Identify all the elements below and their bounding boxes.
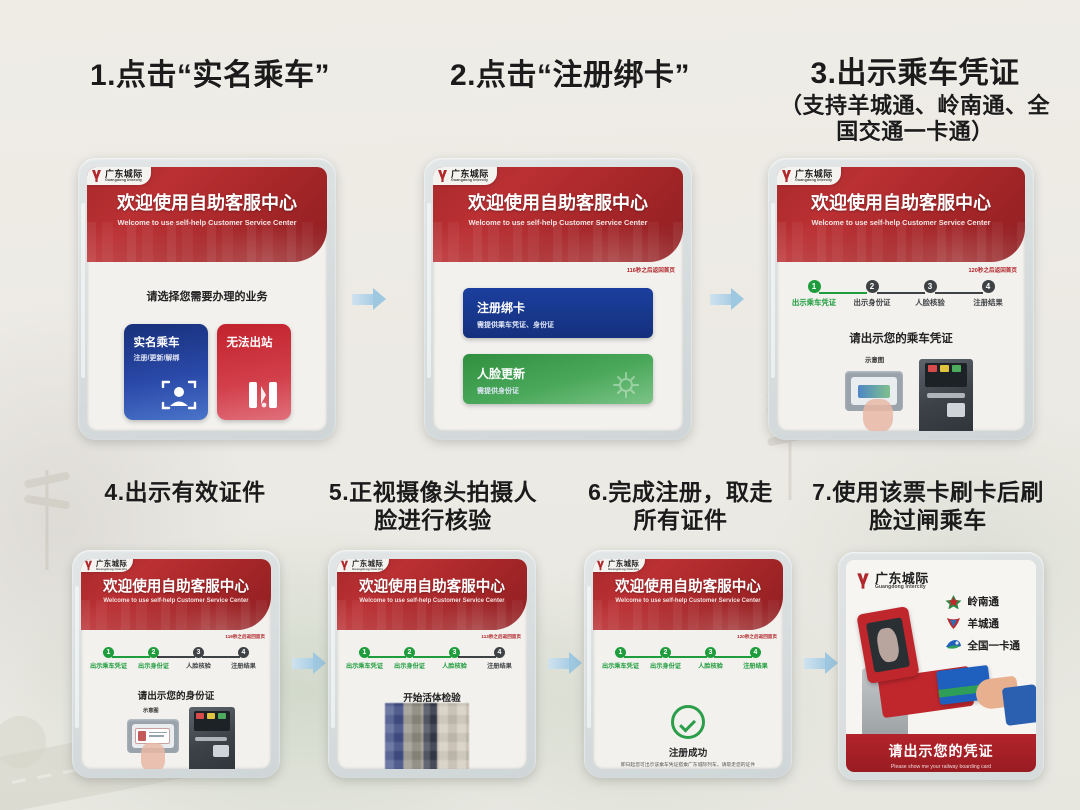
accepted-card-yangchengtong: 羊城通 (945, 616, 1021, 631)
brand-logo-text-2: 广东城际 Guangdong Intercity (451, 170, 489, 183)
camera-preview-mosaic (385, 703, 469, 769)
guangdong-intercity-logo-icon (781, 169, 792, 183)
kiosk-welcome-subtitle-2: Welcome to use self-help Customer Servic… (433, 218, 683, 227)
service-card-title: 无法出站 (227, 334, 291, 350)
gate-machine-illustration (189, 707, 235, 769)
brand-logo-7: 广东城际 Guangdong Intercity (856, 572, 929, 590)
kiosk-welcome-title-6: 欢迎使用自助客服中心 (593, 575, 783, 596)
step-3-heading: 3.出示乘车凭证 （支持羊城通、岭南通、全国交通一卡通） (775, 56, 1055, 146)
progress-step-2: 2 出示身份证 (843, 276, 901, 308)
boarding-card-poster-inner: 广东城际 Guangdong Intercity 岭南通 (846, 560, 1036, 772)
boarding-card-poster-7: 广东城际 Guangdong Intercity 岭南通 (838, 552, 1044, 780)
progress-step-2: 2 出示身份证 (643, 641, 688, 670)
accepted-card-name: 全国一卡通 (968, 638, 1021, 653)
brand-logo-5: 广东城际 Guangdong Intercity (337, 559, 389, 572)
progress-step-label: 注册结果 (221, 661, 266, 670)
national-transit-card-logo-icon (945, 638, 962, 653)
kiosk-welcome-subtitle-4: Welcome to use self-help Customer Servic… (81, 598, 271, 604)
brand-logo-6: 广东城际 Guangdong Intercity (593, 559, 645, 572)
progress-step-number: 4 (982, 280, 995, 293)
progress-step-3: 3 人脸核验 (176, 641, 221, 670)
kiosk-welcome-subtitle-1: Welcome to use self-help Customer Servic… (87, 218, 327, 227)
progress-step-2: 2 出示身份证 (131, 641, 176, 670)
progress-step-label: 人脸核验 (688, 661, 733, 670)
action-button-subtitle: 需提供乘车凭证、身份证 (477, 320, 653, 330)
kiosk-timer-3: 120秒之后返回首页 (969, 266, 1018, 274)
progress-step-2: 2 出示身份证 (387, 641, 432, 670)
hand-illustration (141, 743, 165, 769)
gate-icon (247, 380, 279, 410)
progress-step-4: 4 注册结果 (477, 641, 522, 670)
brand-logo-1: 广东城际 Guangdong Intercity (87, 167, 151, 185)
kiosk-welcome-title-4: 欢迎使用自助客服中心 (81, 575, 271, 596)
brand-logo-2: 广东城际 Guangdong Intercity (433, 167, 497, 185)
step-6-heading-main: 6.完成注册，取走所有证件 (578, 478, 783, 534)
guangdong-intercity-logo-icon (437, 169, 448, 183)
tutorial-poster: 1.点击“实名乘车” 2.点击“注册绑卡” 3.出示乘车凭证 （支持羊城通、岭南… (0, 0, 1080, 810)
kiosk-timer-4: 119秒之后返回首页 (225, 634, 265, 640)
progress-step-label: 人脸核验 (901, 297, 959, 308)
progress-step-label: 出示身份证 (843, 297, 901, 308)
accepted-card-national: 全国一卡通 (945, 638, 1021, 653)
kiosk-timer-6: 120秒之后返回首页 (737, 634, 777, 640)
progress-step-3: 3 人脸核验 (432, 641, 477, 670)
brand-name-en: Guangdong Intercity (795, 179, 833, 183)
progress-step-number: 4 (750, 647, 761, 658)
kiosk-screen-6-display: 广东城际 Guangdong Intercity 欢迎使用自助客服中心 Welc… (593, 559, 783, 769)
service-card-realname-ride[interactable]: 实名乘车 注册/更新/解绑 (124, 324, 208, 420)
flow-arrow-2 (710, 288, 746, 310)
flow-arrow-6 (804, 652, 838, 674)
background-circle-decoration (0, 716, 46, 768)
step-6-heading: 6.完成注册，取走所有证件 (578, 478, 783, 534)
progress-step-1: 1 出示乘车凭证 (785, 276, 843, 308)
kiosk-screen-1-display: 广东城际 Guangdong Intercity 欢迎使用自助客服中心 Welc… (87, 167, 327, 431)
brand-logo-text-6: 广东城际 Guangdong Intercity (608, 560, 639, 570)
kiosk-welcome-subtitle-5: Welcome to use self-help Customer Servic… (337, 598, 527, 604)
kiosk-prompt-1: 请选择您需要办理的业务 (87, 288, 327, 304)
kiosk-prompt-4: 请出示您的身份证 (81, 688, 271, 702)
brand-logo-text-3: 广东城际 Guangdong Intercity (795, 170, 833, 183)
brand-name-en: Guangdong Intercity (875, 585, 929, 590)
brand-name-en: Guangdong Intercity (96, 568, 127, 571)
progress-step-label: 出示乘车凭证 (342, 661, 387, 670)
progress-step-label: 出示身份证 (131, 661, 176, 670)
kiosk-screen-4-display: 广东城际 Guangdong Intercity 欢迎使用自助客服中心 Welc… (81, 559, 271, 769)
poster-banner-en: Please show me your railway boarding car… (846, 764, 1036, 770)
gate-machine-illustration (919, 359, 973, 431)
kiosk-screen-5: 广东城际 Guangdong Intercity 欢迎使用自助客服中心 Welc… (328, 550, 536, 778)
progress-step-label: 出示身份证 (643, 661, 688, 670)
kiosk-screen-2: 广东城际 Guangdong Intercity 欢迎使用自助客服中心 Welc… (424, 158, 692, 440)
kiosk-timer-5: 113秒之后返回首页 (481, 634, 521, 640)
brand-logo-text-1: 广东城际 Guangdong Intercity (105, 170, 143, 183)
kiosk-timer-2: 116秒之后返回首页 (627, 266, 675, 274)
kiosk-illustration-4 (81, 713, 271, 769)
kiosk-welcome-title-1: 欢迎使用自助客服中心 (87, 189, 327, 215)
brand-logo-3: 广东城际 Guangdong Intercity (777, 167, 841, 185)
action-button-list-2: 注册绑卡 需提供乘车凭证、身份证 人脸更新 需提供身份证 (433, 262, 683, 404)
action-button-title: 注册绑卡 (477, 299, 653, 316)
flow-arrow-4 (292, 652, 326, 674)
step-5-heading-main: 5.正视摄像头拍摄人脸进行核验 (318, 478, 548, 534)
progress-step-label: 出示身份证 (387, 661, 432, 670)
progress-step-3: 3 人脸核验 (688, 641, 733, 670)
kiosk-header-4: 广东城际 Guangdong Intercity 欢迎使用自助客服中心 Welc… (81, 559, 271, 630)
kiosk-welcome-subtitle-3: Welcome to use self-help Customer Servic… (777, 218, 1025, 227)
kiosk-screen-3: 广东城际 Guangdong Intercity 欢迎使用自助客服中心 Welc… (768, 158, 1034, 440)
kiosk-prompt-3: 请出示您的乘车凭证 (777, 330, 1025, 346)
progress-step-label: 注册结果 (477, 661, 522, 670)
brand-logo-4: 广东城际 Guangdong Intercity (81, 559, 133, 572)
kiosk-screen-3-display: 广东城际 Guangdong Intercity 欢迎使用自助客服中心 Welc… (777, 167, 1025, 431)
yangchengtong-logo-icon (945, 616, 962, 631)
progress-step-1: 1 出示乘车凭证 (86, 641, 131, 670)
kiosk-illustration-3 (777, 363, 1025, 431)
brand-logo-text-7: 广东城际 Guangdong Intercity (875, 572, 929, 590)
guangdong-intercity-logo-icon (84, 560, 93, 571)
kiosk-screen-2-display: 广东城际 Guangdong Intercity 欢迎使用自助客服中心 Welc… (433, 167, 683, 431)
brand-logo-text-4: 广东城际 Guangdong Intercity (96, 560, 127, 570)
step-2-heading: 2.点击“注册绑卡” (420, 58, 720, 95)
id-card-icon (135, 728, 169, 744)
accepted-card-name: 岭南通 (968, 594, 1000, 609)
kiosk-screen-5-display: 广东城际 Guangdong Intercity 欢迎使用自助客服中心 Welc… (337, 559, 527, 769)
progress-step-label: 注册结果 (959, 297, 1017, 308)
progress-step-4: 4 注册结果 (221, 641, 266, 670)
step-4-heading: 4.出示有效证件 (65, 478, 305, 506)
progress-step-4: 4 注册结果 (733, 641, 778, 670)
progress-step-4: 4 注册结果 (959, 276, 1017, 308)
guangdong-intercity-logo-icon (340, 560, 349, 571)
sleeve-illustration (1002, 684, 1036, 726)
service-card-title: 实名乘车 (134, 334, 208, 350)
hand-illustration (863, 399, 893, 431)
accepted-card-list: 岭南通 羊城通 (945, 594, 1021, 660)
step-2-heading-main: 2.点击“注册绑卡” (420, 58, 720, 95)
progress-step-label: 注册结果 (733, 661, 778, 670)
progress-step-label: 出示乘车凭证 (785, 297, 843, 308)
kiosk-welcome-subtitle-6: Welcome to use self-help Customer Servic… (593, 598, 783, 604)
progress-step-label: 人脸核验 (432, 661, 477, 670)
brand-name-en: Guangdong Intercity (451, 179, 489, 183)
progress-step-label: 出示乘车凭证 (598, 661, 643, 670)
brand-logo-text-5: 广东城际 Guangdong Intercity (352, 560, 383, 570)
kiosk-header-2: 广东城际 Guangdong Intercity 欢迎使用自助客服中心 Welc… (433, 167, 683, 262)
progress-step-number: 4 (238, 647, 249, 658)
kiosk-header-5: 广东城际 Guangdong Intercity 欢迎使用自助客服中心 Welc… (337, 559, 527, 630)
brand-name-en: Guangdong Intercity (352, 568, 383, 571)
progress-step-number: 4 (494, 647, 505, 658)
action-button-register-card[interactable]: 注册绑卡 需提供乘车凭证、身份证 (463, 288, 653, 338)
flow-arrow-1 (352, 288, 388, 310)
accepted-card-name: 羊城通 (968, 616, 1000, 631)
kiosk-welcome-title-5: 欢迎使用自助客服中心 (337, 575, 527, 596)
guangdong-intercity-logo-icon (596, 560, 605, 571)
step-3-heading-sub: （支持羊城通、岭南通、全国交通一卡通） (775, 93, 1055, 147)
face-update-icon (611, 370, 641, 400)
guangdong-intercity-logo-icon (91, 169, 102, 183)
kiosk-screen-4: 广东城际 Guangdong Intercity 欢迎使用自助客服中心 Welc… (72, 550, 280, 778)
kiosk-header-3: 广东城际 Guangdong Intercity 欢迎使用自助客服中心 Welc… (777, 167, 1025, 262)
check-circle-icon (671, 705, 705, 739)
poster-banner-cn: 请出示您的凭证 (846, 741, 1036, 761)
progress-step-3: 3 人脸核验 (901, 276, 959, 308)
accepted-card-lingnantong: 岭南通 (945, 594, 1021, 609)
progress-step-label: 人脸核验 (176, 661, 221, 670)
step-7-heading: 7.使用该票卡刷卡后刷脸过闸乘车 (808, 478, 1048, 534)
kiosk-header-1: 广东城际 Guangdong Intercity 欢迎使用自助客服中心 Welc… (87, 167, 327, 262)
poster-banner-7: 请出示您的凭证 Please show me your railway boar… (846, 734, 1036, 772)
service-card-subtitle: 注册/更新/解绑 (134, 353, 208, 363)
kiosk-welcome-title-3: 欢迎使用自助客服中心 (777, 189, 1025, 215)
kiosk-welcome-title-2: 欢迎使用自助客服中心 (433, 189, 683, 215)
kiosk-prompt-6: 注册成功 (593, 745, 783, 759)
kiosk-screen-1: 广东城际 Guangdong Intercity 欢迎使用自助客服中心 Welc… (78, 158, 336, 440)
brand-name-en: Guangdong Intercity (105, 179, 143, 183)
step-7-heading-main: 7.使用该票卡刷卡后刷脸过闸乘车 (808, 478, 1048, 534)
service-card-list: 实名乘车 注册/更新/解绑 无法出站 (87, 324, 327, 420)
kiosk-note-6: 即日起您可出示该乘车凭证搭乘广东城际列车，请取走您的证件 (597, 761, 779, 768)
lingnantong-logo-icon (945, 594, 962, 609)
service-card-cannot-exit[interactable]: 无法出站 (217, 324, 291, 420)
guangdong-intercity-logo-icon (856, 572, 870, 590)
step-5-heading: 5.正视摄像头拍摄人脸进行核验 (318, 478, 548, 534)
step-4-heading-main: 4.出示有效证件 (65, 478, 305, 506)
kiosk-screen-6: 广东城际 Guangdong Intercity 欢迎使用自助客服中心 Welc… (584, 550, 792, 778)
step-1-heading-main: 1.点击“实名乘车” (60, 58, 360, 95)
success-icon-wrap (593, 705, 783, 744)
step-3-heading-main: 3.出示乘车凭证 (775, 56, 1055, 93)
brand-name-en: Guangdong Intercity (608, 568, 639, 571)
step-1-heading: 1.点击“实名乘车” (60, 58, 360, 95)
progress-step-1: 1 出示乘车凭证 (342, 641, 387, 670)
face-recognition-terminal-illustration (856, 606, 919, 684)
action-button-face-update[interactable]: 人脸更新 需提供身份证 (463, 354, 653, 404)
kiosk-header-6: 广东城际 Guangdong Intercity 欢迎使用自助客服中心 Welc… (593, 559, 783, 630)
flow-arrow-5 (548, 652, 582, 674)
progress-step-label: 出示乘车凭证 (86, 661, 131, 670)
face-scan-icon (160, 378, 198, 412)
progress-step-1: 1 出示乘车凭证 (598, 641, 643, 670)
